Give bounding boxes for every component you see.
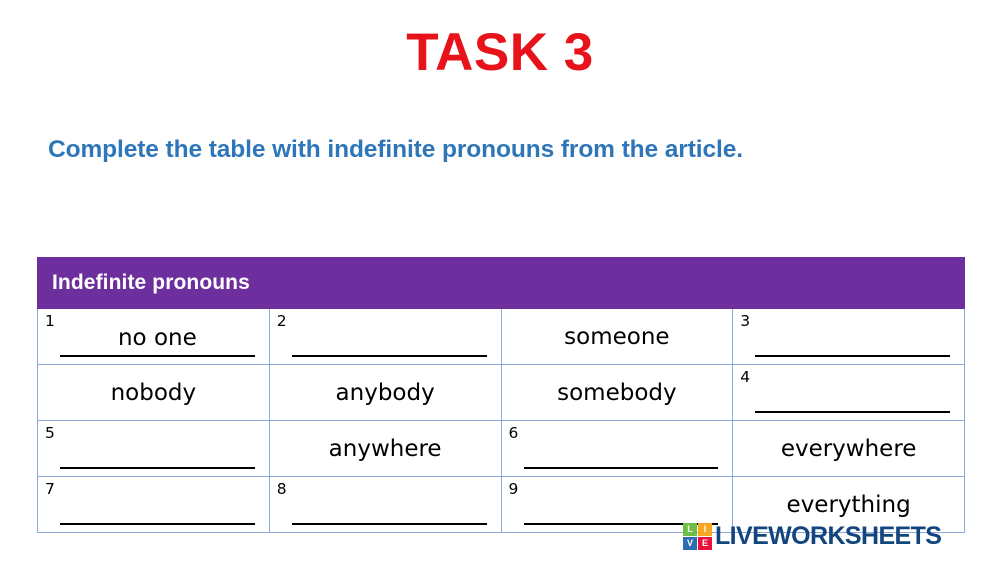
table-row: nobodyanybodysomebody4 xyxy=(38,365,965,421)
table-cell: 2 xyxy=(269,309,501,365)
table-cell: 6 xyxy=(501,421,733,477)
prefilled-word: someone xyxy=(502,309,733,364)
answer-blank[interactable]: no one xyxy=(60,321,255,357)
blank-number: 3 xyxy=(740,314,750,330)
prefilled-word: nobody xyxy=(38,365,269,420)
blank-number: 4 xyxy=(740,370,750,386)
table-cell: nobody xyxy=(38,365,270,421)
instruction-text: Complete the table with indefinite prono… xyxy=(48,135,958,164)
blank-number: 2 xyxy=(277,314,287,330)
pronouns-table-container: Indefinite pronouns 1no one2someone3nobo… xyxy=(37,257,964,533)
answer-blank[interactable] xyxy=(292,321,487,357)
answer-blank[interactable] xyxy=(755,377,950,413)
answer-blank[interactable] xyxy=(755,321,950,357)
liveworksheets-logo: L I V E LIVEWORKSHEETS xyxy=(683,521,941,551)
logo-square-e: E xyxy=(698,537,712,550)
blank-number: 6 xyxy=(509,426,519,442)
table-header-row: Indefinite pronouns xyxy=(38,258,965,309)
blank-number: 5 xyxy=(45,426,55,442)
answer-blank[interactable] xyxy=(292,489,487,525)
logo-square-v: V xyxy=(683,537,697,550)
page-title: TASK 3 xyxy=(0,24,1000,82)
table-cell: anywhere xyxy=(269,421,501,477)
blank-number: 9 xyxy=(509,482,519,498)
table-cell: everywhere xyxy=(733,421,965,477)
table-cell: 8 xyxy=(269,477,501,533)
logo-square-i: I xyxy=(698,523,712,536)
indefinite-pronouns-table: Indefinite pronouns 1no one2someone3nobo… xyxy=(37,257,965,533)
prefilled-word: anywhere xyxy=(270,421,501,476)
table-row: 1no one2someone3 xyxy=(38,309,965,365)
table-cell: anybody xyxy=(269,365,501,421)
table-cell: 5 xyxy=(38,421,270,477)
answer-blank[interactable] xyxy=(60,489,255,525)
blank-number: 7 xyxy=(45,482,55,498)
table-cell: 1no one xyxy=(38,309,270,365)
blank-number: 1 xyxy=(45,314,55,330)
prefilled-word: somebody xyxy=(502,365,733,420)
table-row: 5anywhere6everywhere xyxy=(38,421,965,477)
logo-grid-icon: L I V E xyxy=(683,523,712,550)
table-header-label: Indefinite pronouns xyxy=(38,258,965,309)
table-cell: someone xyxy=(501,309,733,365)
table-cell: 3 xyxy=(733,309,965,365)
answer-blank[interactable] xyxy=(524,489,719,525)
answer-blank[interactable] xyxy=(60,433,255,469)
prefilled-word: everywhere xyxy=(733,421,964,476)
worksheet-page: TASK 3 Complete the table with indefinit… xyxy=(0,0,1000,565)
table-body: 1no one2someone3nobodyanybodysomebody45a… xyxy=(38,309,965,533)
table-cell: 7 xyxy=(38,477,270,533)
prefilled-word: anybody xyxy=(270,365,501,420)
answer-blank[interactable] xyxy=(524,433,719,469)
table-cell: 4 xyxy=(733,365,965,421)
logo-square-l: L xyxy=(683,523,697,536)
logo-wordmark: LIVEWORKSHEETS xyxy=(715,524,941,549)
table-cell: somebody xyxy=(501,365,733,421)
blank-number: 8 xyxy=(277,482,287,498)
